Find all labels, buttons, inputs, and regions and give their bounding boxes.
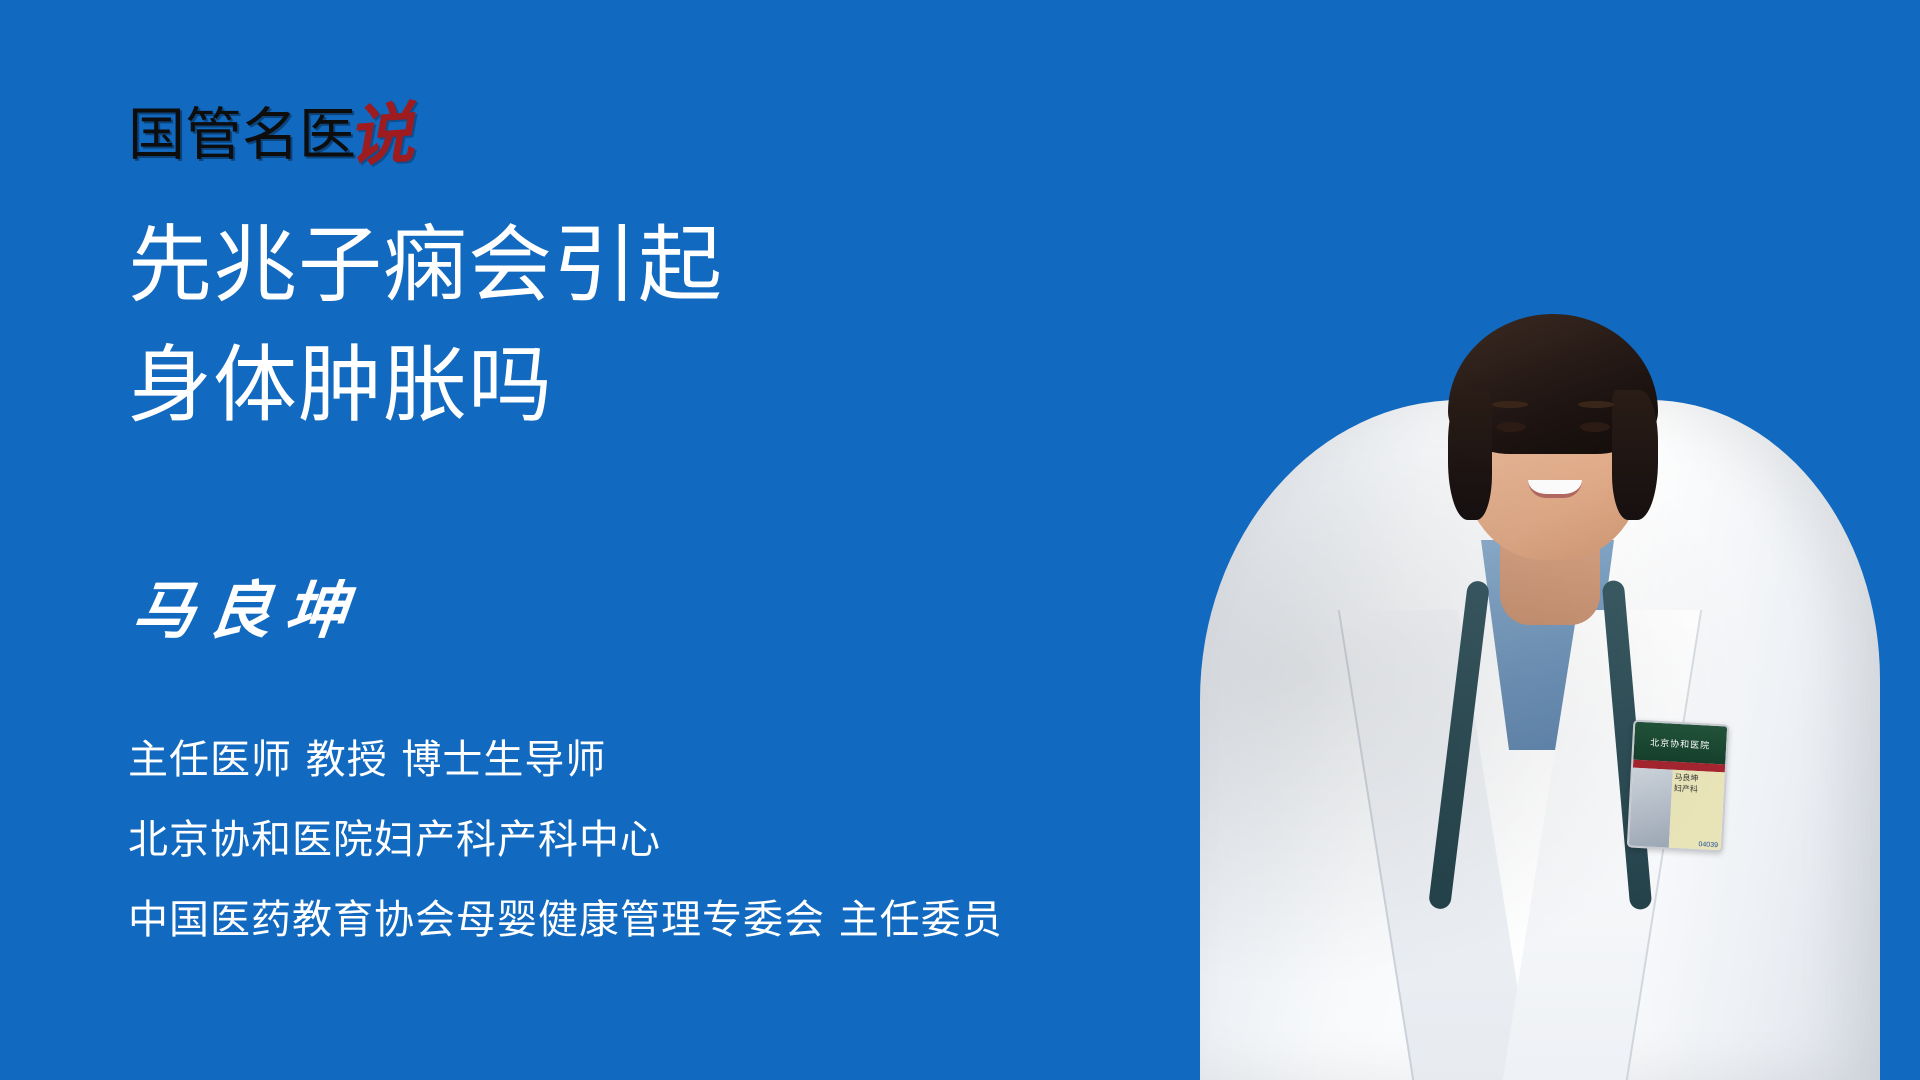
hair-side-right [1612, 390, 1658, 520]
logo-main-text: 国管名医 [128, 107, 356, 164]
title-block: 先兆子痫会引起 身体肿胀吗 [128, 205, 948, 445]
program-logo: 国管名医 说 [128, 92, 416, 164]
logo-accent-text: 说 [345, 100, 415, 170]
title-line-1: 先兆子痫会引起 [128, 205, 948, 325]
credential-line-3: 中国医药教育协会母婴健康管理专委会 主任委员 [128, 880, 1128, 960]
doctor-credentials: 主任医师 教授 博士生导师 北京协和医院妇产科产科中心 中国医药教育协会母婴健康… [128, 720, 1128, 960]
doctor-portrait: 北京协和医院 马良坤 妇产科 04039 [1160, 50, 1920, 1080]
credential-line-1: 主任医师 教授 博士生导师 [128, 720, 1128, 800]
credential-line-2: 北京协和医院妇产科产科中心 [128, 800, 1128, 880]
doctor-name: 马良坤 [130, 580, 365, 642]
badge-department: 妇产科 [1674, 784, 1722, 797]
badge-info: 马良坤 妇产科 [1669, 770, 1725, 853]
hair-side-left [1448, 390, 1492, 520]
badge-hospital-name: 北京协和医院 [1633, 722, 1727, 765]
id-badge: 北京协和医院 马良坤 妇产科 04039 [1627, 720, 1730, 853]
badge-photo [1629, 768, 1673, 852]
slide-root: 国管名医 说 先兆子痫会引起 身体肿胀吗 马良坤 主任医师 教授 博士生导师 北… [0, 0, 1920, 1080]
eyebrow-right [1578, 401, 1614, 408]
eye-left [1496, 422, 1526, 432]
eye-right [1580, 422, 1610, 432]
eyebrow-left [1492, 401, 1528, 408]
title-line-2: 身体肿胀吗 [128, 325, 948, 445]
badge-body: 马良坤 妇产科 [1629, 768, 1725, 853]
badge-number: 04039 [1698, 841, 1718, 849]
